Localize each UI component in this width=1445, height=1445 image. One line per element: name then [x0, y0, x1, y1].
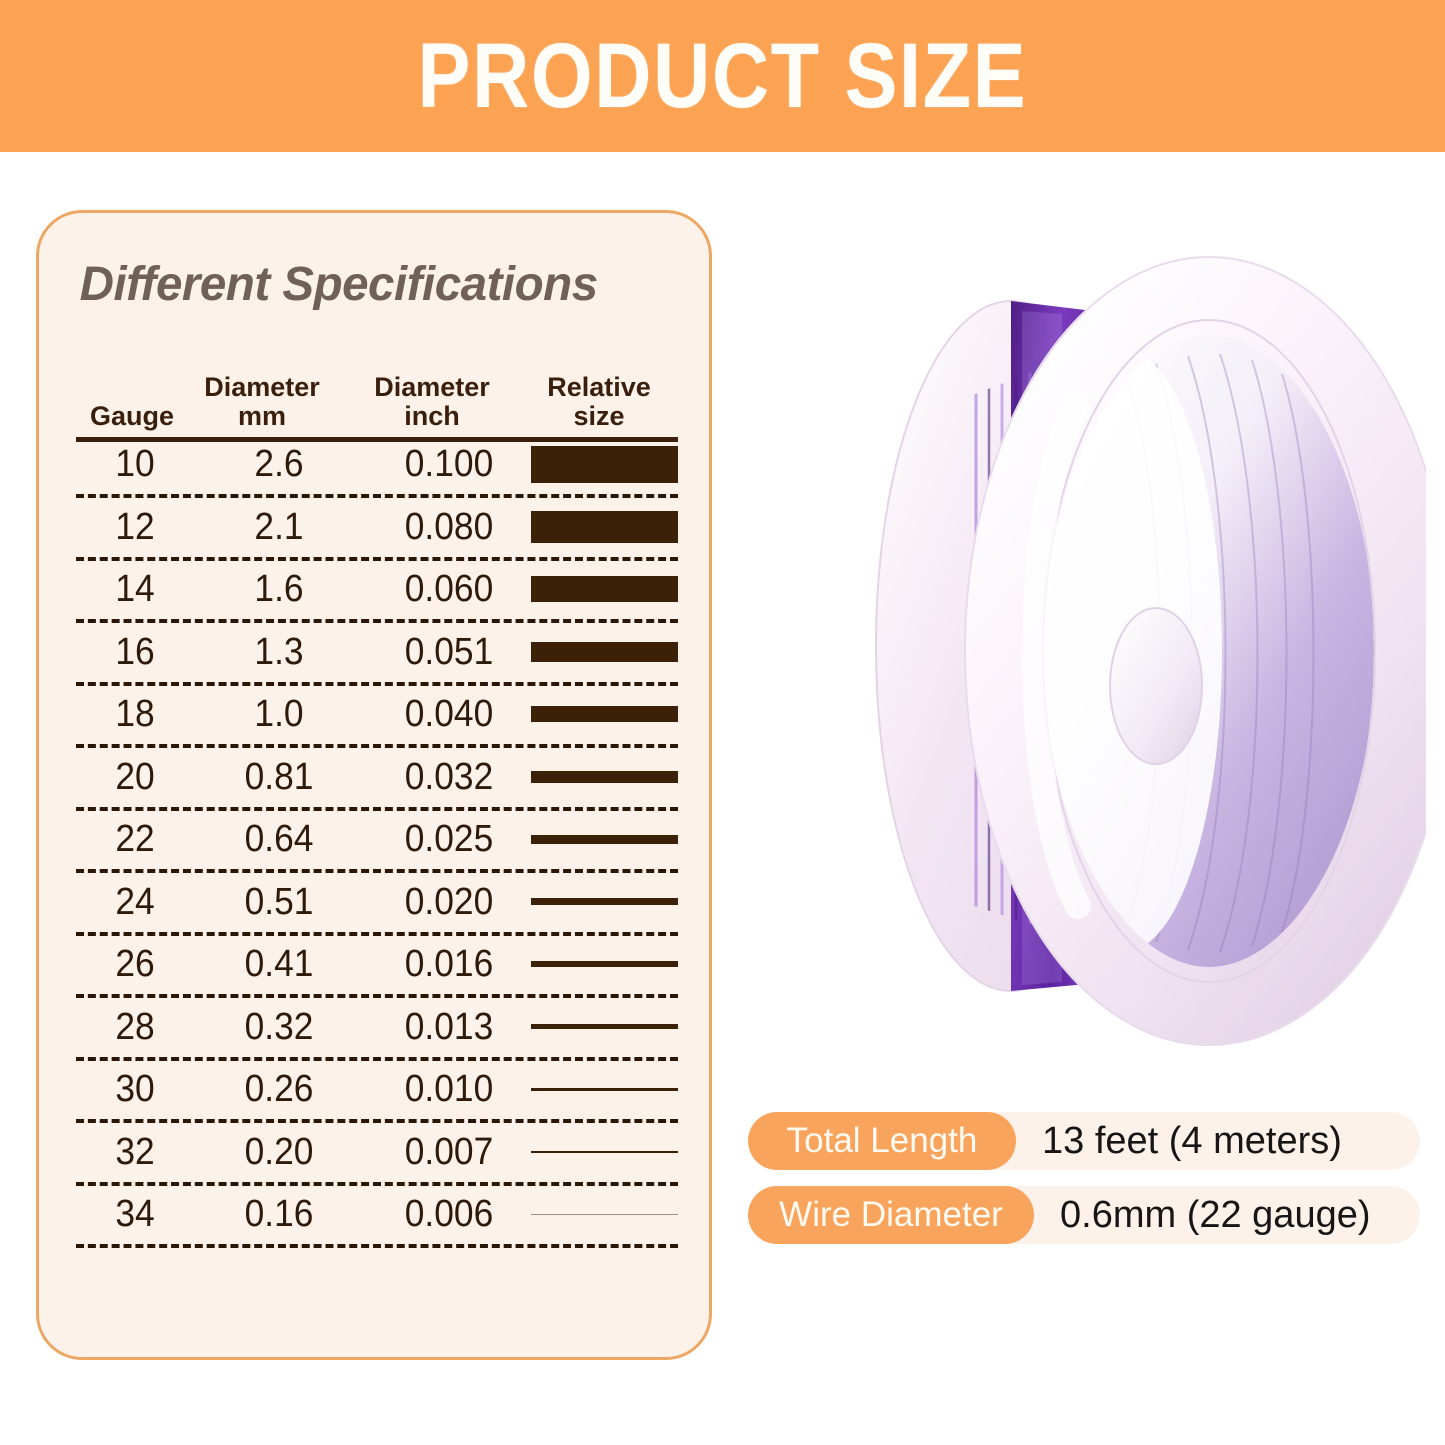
- product-photo-wire-spool: [826, 256, 1426, 1046]
- column-header-diameter-inch-line2: inch: [356, 402, 508, 431]
- table-row: 200.810.032: [76, 746, 678, 809]
- table-row: 122.10.080: [76, 496, 678, 559]
- cell-diameter-inch: 0.080: [370, 500, 528, 554]
- relative-size-bar: [531, 961, 678, 967]
- table-body: 102.60.100122.10.080141.60.060161.30.051…: [76, 433, 678, 1246]
- cell-gauge: 22: [80, 812, 190, 866]
- cell-diameter-mm: 0.16: [200, 1187, 358, 1241]
- cell-diameter-inch: 0.060: [370, 562, 528, 616]
- cell-gauge: 10: [80, 437, 190, 491]
- cell-diameter-inch: 0.016: [370, 937, 528, 991]
- cell-diameter-mm: 0.51: [200, 875, 358, 929]
- cell-diameter-mm: 1.3: [200, 625, 358, 679]
- cell-relative-size: [531, 1058, 678, 1121]
- cell-diameter-mm: 0.26: [200, 1062, 358, 1116]
- cell-diameter-inch: 0.013: [370, 1000, 528, 1054]
- cell-gauge: 18: [80, 687, 190, 741]
- cell-diameter-inch: 0.007: [370, 1125, 528, 1179]
- info-badge-wire-diameter: Wire Diameter 0.6mm (22 gauge): [748, 1186, 1420, 1244]
- cell-gauge: 34: [80, 1187, 190, 1241]
- info-badge-wire-diameter-value: 0.6mm (22 gauge): [1060, 1194, 1371, 1237]
- cell-diameter-inch: 0.020: [370, 875, 528, 929]
- relative-size-bar: [531, 446, 678, 483]
- cell-diameter-mm: 0.41: [200, 937, 358, 991]
- cell-gauge: 28: [80, 1000, 190, 1054]
- row-divider: [76, 1244, 678, 1248]
- cell-diameter-mm: 0.32: [200, 1000, 358, 1054]
- column-header-diameter-mm: Diameter mm: [188, 373, 336, 431]
- cell-diameter-inch: 0.006: [370, 1187, 528, 1241]
- column-header-gauge-line2: Gauge: [76, 402, 188, 431]
- table-row: 340.160.006: [76, 1183, 678, 1246]
- cell-relative-size: [531, 433, 678, 496]
- cell-diameter-inch: 0.040: [370, 687, 528, 741]
- cell-gauge: 14: [80, 562, 190, 616]
- info-badge-total-length-value: 13 feet (4 meters): [1042, 1120, 1342, 1163]
- cell-relative-size: [531, 496, 678, 559]
- cell-diameter-inch: 0.100: [370, 437, 528, 491]
- cell-relative-size: [531, 1183, 678, 1246]
- cell-diameter-inch: 0.051: [370, 625, 528, 679]
- column-header-diameter-mm-line1: Diameter: [188, 373, 336, 402]
- cell-gauge: 20: [80, 750, 190, 804]
- table-row: 280.320.013: [76, 996, 678, 1059]
- cell-relative-size: [531, 871, 678, 934]
- cell-relative-size: [531, 558, 678, 621]
- specifications-card: Different Specifications Gauge Diameter …: [36, 210, 712, 1360]
- relative-size-bar: [531, 1151, 678, 1153]
- cell-diameter-mm: 0.81: [200, 750, 358, 804]
- table-row: 220.640.025: [76, 808, 678, 871]
- relative-size-bar: [531, 576, 678, 602]
- column-header-relative-size: Relative size: [520, 373, 678, 431]
- page-title: PRODUCT SIZE: [418, 24, 1028, 129]
- relative-size-bar: [531, 771, 678, 783]
- column-header-relative-size-line1: Relative: [520, 373, 678, 402]
- cell-relative-size: [531, 996, 678, 1059]
- cell-relative-size: [531, 933, 678, 996]
- cell-diameter-mm: 1.0: [200, 687, 358, 741]
- cell-gauge: 16: [80, 625, 190, 679]
- cell-diameter-inch: 0.010: [370, 1062, 528, 1116]
- cell-relative-size: [531, 621, 678, 684]
- relative-size-bar: [531, 1088, 678, 1091]
- column-header-diameter-mm-line2: mm: [188, 402, 336, 431]
- relative-size-bar: [531, 511, 678, 543]
- table-row: 161.30.051: [76, 621, 678, 684]
- cell-diameter-mm: 0.20: [200, 1125, 358, 1179]
- relative-size-bar: [531, 898, 678, 905]
- info-badge-wire-diameter-label: Wire Diameter: [748, 1186, 1034, 1244]
- relative-size-bar: [531, 706, 678, 722]
- specifications-table: Gauge Diameter mm Diameter inch Relative…: [76, 363, 678, 1246]
- cell-relative-size: [531, 808, 678, 871]
- cell-diameter-inch: 0.032: [370, 750, 528, 804]
- cell-diameter-mm: 1.6: [200, 562, 358, 616]
- column-header-relative-size-line2: size: [520, 402, 678, 431]
- wire-spool-illustration: [826, 256, 1426, 1046]
- relative-size-bar: [531, 835, 678, 844]
- column-header-gauge: Gauge: [76, 402, 188, 431]
- table-row: 260.410.016: [76, 933, 678, 996]
- cell-relative-size: [531, 1121, 678, 1184]
- cell-gauge: 12: [80, 500, 190, 554]
- table-row: 141.60.060: [76, 558, 678, 621]
- table-row: 240.510.020: [76, 871, 678, 934]
- column-header-diameter-inch-line1: Diameter: [356, 373, 508, 402]
- table-row: 320.200.007: [76, 1121, 678, 1184]
- cell-gauge: 26: [80, 937, 190, 991]
- cell-diameter-inch: 0.025: [370, 812, 528, 866]
- relative-size-bar: [531, 1214, 678, 1215]
- cell-diameter-mm: 2.6: [200, 437, 358, 491]
- header-banner: PRODUCT SIZE: [0, 0, 1445, 152]
- cell-gauge: 24: [80, 875, 190, 929]
- cell-diameter-mm: 0.64: [200, 812, 358, 866]
- column-header-diameter-inch: Diameter inch: [356, 373, 508, 431]
- info-badge-total-length: Total Length 13 feet (4 meters): [748, 1112, 1420, 1170]
- relative-size-bar: [531, 642, 678, 662]
- cell-gauge: 32: [80, 1125, 190, 1179]
- table-row: 102.60.100: [76, 433, 678, 496]
- cell-diameter-mm: 2.1: [200, 500, 358, 554]
- table-row: 181.00.040: [76, 683, 678, 746]
- cell-relative-size: [531, 683, 678, 746]
- relative-size-bar: [531, 1024, 678, 1029]
- table-row: 300.260.010: [76, 1058, 678, 1121]
- spec-card-title: Different Specifications: [80, 257, 598, 312]
- info-badge-total-length-label: Total Length: [748, 1112, 1016, 1170]
- cell-relative-size: [531, 746, 678, 809]
- cell-gauge: 30: [80, 1062, 190, 1116]
- table-header-row: Gauge Diameter mm Diameter inch Relative…: [76, 363, 678, 433]
